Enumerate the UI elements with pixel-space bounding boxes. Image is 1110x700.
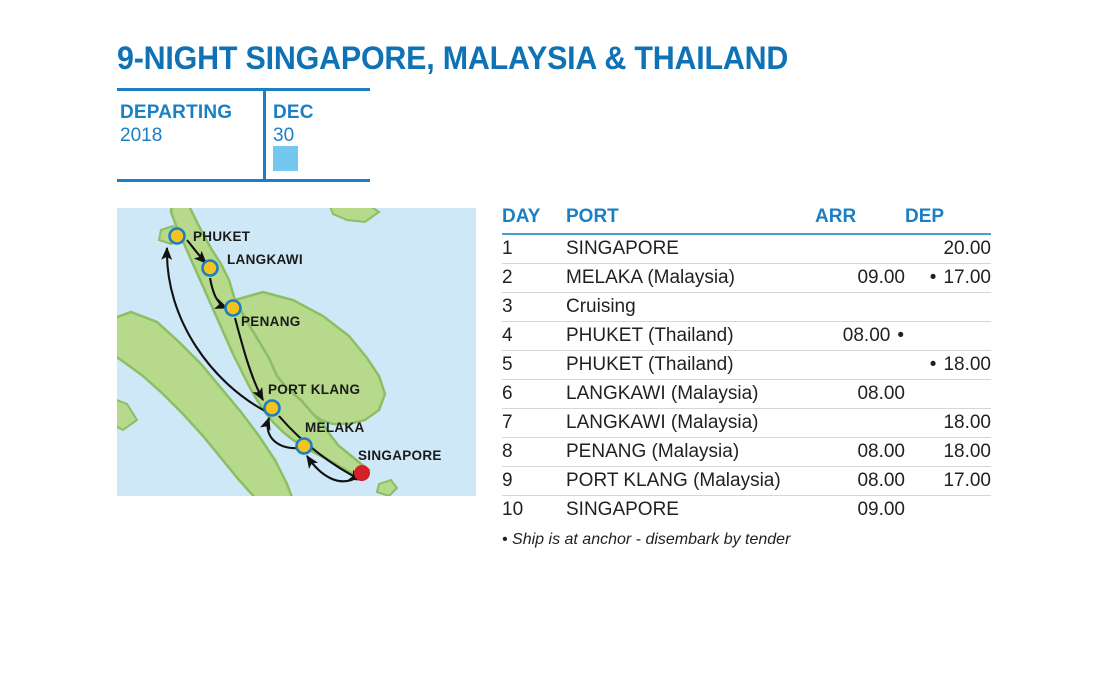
port-marker-port-klang [265,401,280,416]
cell-departure [905,293,991,322]
cell-arrival [815,234,905,264]
cell-departure [905,380,991,409]
table-row: 3Cruising [502,293,991,322]
cell-departure [905,496,991,525]
cell-port: PHUKET (Thailand) [566,351,815,380]
departing-color-swatch [273,146,298,171]
cell-port: PHUKET (Thailand) [566,322,815,351]
map-label-melaka: MELAKA [305,420,365,435]
itinerary-body: 1SINGAPORE20.002MELAKA (Malaysia)09.00•1… [502,234,991,524]
cell-arrival [815,409,905,438]
cell-departure: •17.00 [905,264,991,293]
cell-departure: 18.00 [905,409,991,438]
table-row: 6LANGKAWI (Malaysia)08.00 [502,380,991,409]
itinerary-footnote: • Ship is at anchor - disembark by tende… [502,531,991,549]
cell-arrival: 09.00 [815,496,905,525]
table-row: 9PORT KLANG (Malaysia)08.0017.00 [502,467,991,496]
map-label-langkawi: LANGKAWI [227,252,303,267]
table-row: 2MELAKA (Malaysia)09.00•17.00 [502,264,991,293]
cell-arrival: 09.00 [815,264,905,293]
route-map: PHUKET LANGKAWI PENANG PORT KLANG MELAKA… [117,208,476,496]
cell-day: 10 [502,496,566,525]
cell-departure: 20.00 [905,234,991,264]
cell-arrival: 08.00 [815,380,905,409]
map-label-phuket: PHUKET [193,229,251,244]
anchor-dot-icon: • [930,354,944,375]
cell-arrival [815,351,905,380]
departing-label-line1: DEPARTING [120,101,232,124]
departing-year: 2018 [120,124,232,147]
cell-day: 5 [502,351,566,380]
cell-port: LANGKAWI (Malaysia) [566,409,815,438]
cell-day: 7 [502,409,566,438]
cell-arrival: 08.00• [815,322,905,351]
column-header-day: DAY [502,206,566,234]
anchor-dot-icon: • [930,267,944,288]
cell-port: SINGAPORE [566,234,815,264]
itinerary-table: DAY PORT ARR DEP 1SINGAPORE20.002MELAKA … [502,206,991,524]
cell-port: PORT KLANG (Malaysia) [566,467,815,496]
map-label-penang: PENANG [241,314,301,329]
cell-departure [905,322,991,351]
cell-port: Cruising [566,293,815,322]
cell-day: 1 [502,234,566,264]
table-row: 5PHUKET (Thailand)•18.00 [502,351,991,380]
map-label-port-klang: PORT KLANG [268,382,360,397]
cell-arrival [815,293,905,322]
map-label-singapore: SINGAPORE [358,448,442,463]
cell-port: MELAKA (Malaysia) [566,264,815,293]
cell-day: 8 [502,438,566,467]
cell-day: 4 [502,322,566,351]
column-header-arr: ARR [815,206,905,234]
column-header-dep: DEP [905,206,991,234]
port-marker-singapore [354,465,370,481]
port-marker-phuket [170,229,185,244]
cell-day: 2 [502,264,566,293]
departing-day: 30 [273,124,314,147]
cell-port: LANGKAWI (Malaysia) [566,380,815,409]
cell-arrival: 08.00 [815,438,905,467]
cell-departure: 17.00 [905,467,991,496]
cell-departure: •18.00 [905,351,991,380]
departing-divider [263,90,266,180]
cell-day: 9 [502,467,566,496]
table-row: 8PENANG (Malaysia)08.0018.00 [502,438,991,467]
cell-departure: 18.00 [905,438,991,467]
table-row: 1SINGAPORE20.00 [502,234,991,264]
departing-month: DEC [273,101,314,124]
itinerary-section: DAY PORT ARR DEP 1SINGAPORE20.002MELAKA … [502,206,991,549]
cell-port: PENANG (Malaysia) [566,438,815,467]
departing-rule-bottom [117,179,370,182]
departing-date: DEC 30 [273,101,314,147]
itinerary-header-row: DAY PORT ARR DEP [502,206,991,234]
table-row: 10SINGAPORE09.00 [502,496,991,525]
anchor-dot-icon: • [890,325,905,347]
departing-block: DEPARTING 2018 DEC 30 [117,88,370,182]
table-row: 4PHUKET (Thailand)08.00• [502,322,991,351]
cell-arrival: 08.00 [815,467,905,496]
port-marker-melaka [297,439,312,454]
cell-day: 6 [502,380,566,409]
departing-label: DEPARTING 2018 [120,101,232,147]
cell-day: 3 [502,293,566,322]
page-title: 9-NIGHT SINGAPORE, MALAYSIA & THAILAND [117,40,788,77]
column-header-port: PORT [566,206,815,234]
departing-rule-top [117,88,370,91]
port-marker-penang [226,301,241,316]
table-row: 7LANGKAWI (Malaysia)18.00 [502,409,991,438]
port-marker-langkawi [203,261,218,276]
cell-port: SINGAPORE [566,496,815,525]
